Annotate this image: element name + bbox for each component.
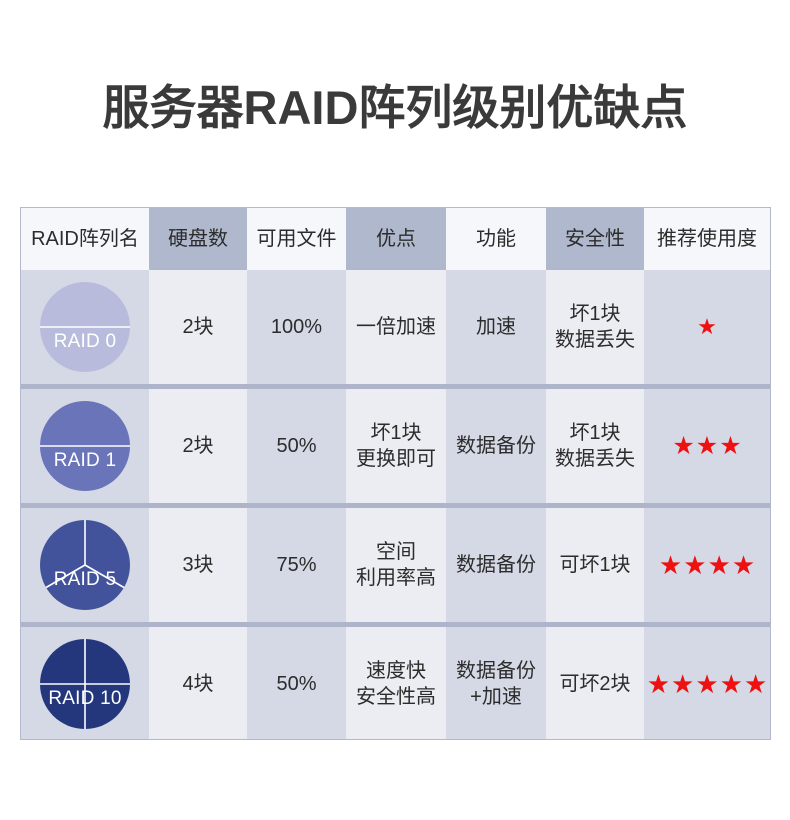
star-icon: ★ <box>695 671 718 697</box>
star-icon: ★ <box>744 671 767 697</box>
raid1-circle-icon: RAID 1 <box>40 401 130 491</box>
star-icon: ★ <box>659 552 682 578</box>
rating-stars: ★★★★ <box>659 552 755 578</box>
disks-cell: 2块 <box>149 270 247 384</box>
star-icon: ★ <box>671 671 694 697</box>
column-header-disks: 硬盘数 <box>149 208 247 270</box>
star-icon: ★ <box>697 314 717 340</box>
disks-cell: 4块 <box>149 627 247 740</box>
page-root: 服务器RAID阵列级别优缺点 RAID阵列名硬盘数可用文件优点功能安全性推荐使用… <box>0 0 790 820</box>
raid-name-label: RAID 5 <box>54 570 116 610</box>
usable-cell: 75% <box>247 508 346 622</box>
star-icon: ★ <box>708 552 731 578</box>
table-row: RAID 104块50%速度快 安全性高数据备份 +加速可坏2块★★★★★ <box>21 627 770 740</box>
usable-cell: 50% <box>247 627 346 740</box>
usable-cell: 50% <box>247 389 346 503</box>
raid10-circle-icon: RAID 10 <box>40 639 130 729</box>
rating-cell: ★ <box>644 270 770 384</box>
func-cell: 数据备份 <box>446 389 546 503</box>
table-row: RAID 53块75%空间 利用率高数据备份可坏1块★★★★ <box>21 508 770 622</box>
func-cell: 加速 <box>446 270 546 384</box>
table-row: RAID 02块100%一倍加速加速坏1块 数据丢失★ <box>21 270 770 384</box>
raid-name-label: RAID 1 <box>54 451 116 491</box>
func-cell: 数据备份 +加速 <box>446 627 546 740</box>
table-row: RAID 12块50%坏1块 更换即可数据备份坏1块 数据丢失★★★ <box>21 389 770 503</box>
column-header-safety: 安全性 <box>546 208 644 270</box>
rating-stars: ★★★ <box>672 433 741 459</box>
rating-stars: ★★★★★ <box>647 671 768 697</box>
column-header-pros: 优点 <box>346 208 446 270</box>
column-header-rating: 推荐使用度 <box>644 208 770 270</box>
pros-cell: 速度快 安全性高 <box>346 627 446 740</box>
raid5-circle-icon: RAID 5 <box>40 520 130 610</box>
func-cell: 数据备份 <box>446 508 546 622</box>
rating-stars: ★ <box>697 314 717 340</box>
raid0-circle-icon: RAID 0 <box>40 282 130 372</box>
star-icon: ★ <box>696 433 718 459</box>
safety-cell: 可坏1块 <box>546 508 644 622</box>
rating-cell: ★★★ <box>644 389 770 503</box>
table-header-row: RAID阵列名硬盘数可用文件优点功能安全性推荐使用度 <box>21 208 770 270</box>
rating-cell: ★★★★ <box>644 508 770 622</box>
raid-name-label: RAID 10 <box>48 689 121 729</box>
safety-cell: 坏1块 数据丢失 <box>546 270 644 384</box>
star-icon: ★ <box>720 671 743 697</box>
usable-cell: 100% <box>247 270 346 384</box>
raid-name-cell: RAID 1 <box>21 389 149 503</box>
raid-name-cell: RAID 0 <box>21 270 149 384</box>
page-title: 服务器RAID阵列级别优缺点 <box>0 78 790 138</box>
raid-name-cell: RAID 5 <box>21 508 149 622</box>
star-icon: ★ <box>732 552 755 578</box>
column-header-usable: 可用文件 <box>247 208 346 270</box>
star-icon: ★ <box>672 433 694 459</box>
raid-comparison-table: RAID阵列名硬盘数可用文件优点功能安全性推荐使用度RAID 02块100%一倍… <box>20 207 771 740</box>
disks-cell: 3块 <box>149 508 247 622</box>
safety-cell: 坏1块 数据丢失 <box>546 389 644 503</box>
star-icon: ★ <box>719 433 741 459</box>
rating-cell: ★★★★★ <box>644 627 770 740</box>
star-icon: ★ <box>647 671 670 697</box>
disks-cell: 2块 <box>149 389 247 503</box>
pros-cell: 坏1块 更换即可 <box>346 389 446 503</box>
star-icon: ★ <box>683 552 706 578</box>
raid-name-label: RAID 0 <box>54 332 116 372</box>
pros-cell: 空间 利用率高 <box>346 508 446 622</box>
pros-cell: 一倍加速 <box>346 270 446 384</box>
table-body: RAID阵列名硬盘数可用文件优点功能安全性推荐使用度RAID 02块100%一倍… <box>21 208 770 740</box>
column-header-name: RAID阵列名 <box>21 208 149 270</box>
safety-cell: 可坏2块 <box>546 627 644 740</box>
raid-name-cell: RAID 10 <box>21 627 149 740</box>
column-header-func: 功能 <box>446 208 546 270</box>
